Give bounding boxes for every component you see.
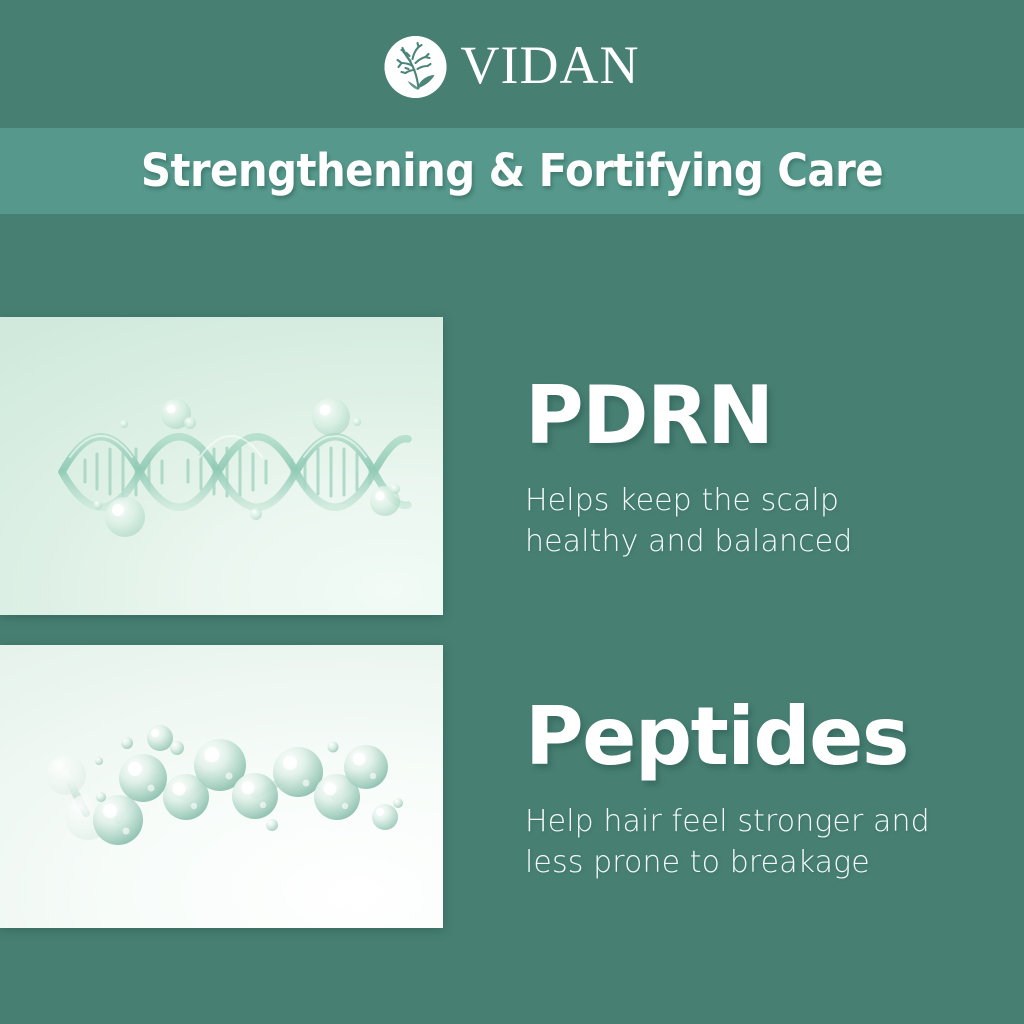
feature-description-line: healthy and balanced <box>525 521 995 562</box>
peptide-molecule-chain-image <box>0 645 443 928</box>
promo-card: VIDAN Strengthening & Fortifying Care <box>0 0 1024 1024</box>
coral-plant-icon <box>385 36 447 98</box>
feature-description-line: Help hair feel stronger and <box>525 801 995 842</box>
brand-wordmark: VIDAN <box>461 38 640 92</box>
feature-description-line: less prone to breakage <box>525 842 995 883</box>
brand-logo-lockup[interactable]: VIDAN <box>385 33 640 101</box>
feature-description-pdrn: Helps keep the scalp healthy and balance… <box>525 458 995 562</box>
brand-wordmark-text: VIDAN <box>461 35 640 95</box>
feature-title-peptides: Peptides <box>525 695 995 779</box>
feature-description-line: Helps keep the scalp <box>525 480 995 521</box>
dna-double-helix-image <box>0 317 443 615</box>
header: VIDAN <box>0 0 1024 128</box>
headline-banner-title: Strengthening & Fortifying Care <box>141 145 883 197</box>
feature-title-pdrn: PDRN <box>525 374 995 458</box>
feature-text-pdrn: PDRN Helps keep the scalp healthy and ba… <box>525 374 995 562</box>
feature-description-peptides: Help hair feel stronger and less prone t… <box>525 779 995 883</box>
headline-banner: Strengthening & Fortifying Care <box>0 128 1024 214</box>
feature-text-peptides: Peptides Help hair feel stronger and les… <box>525 695 995 883</box>
